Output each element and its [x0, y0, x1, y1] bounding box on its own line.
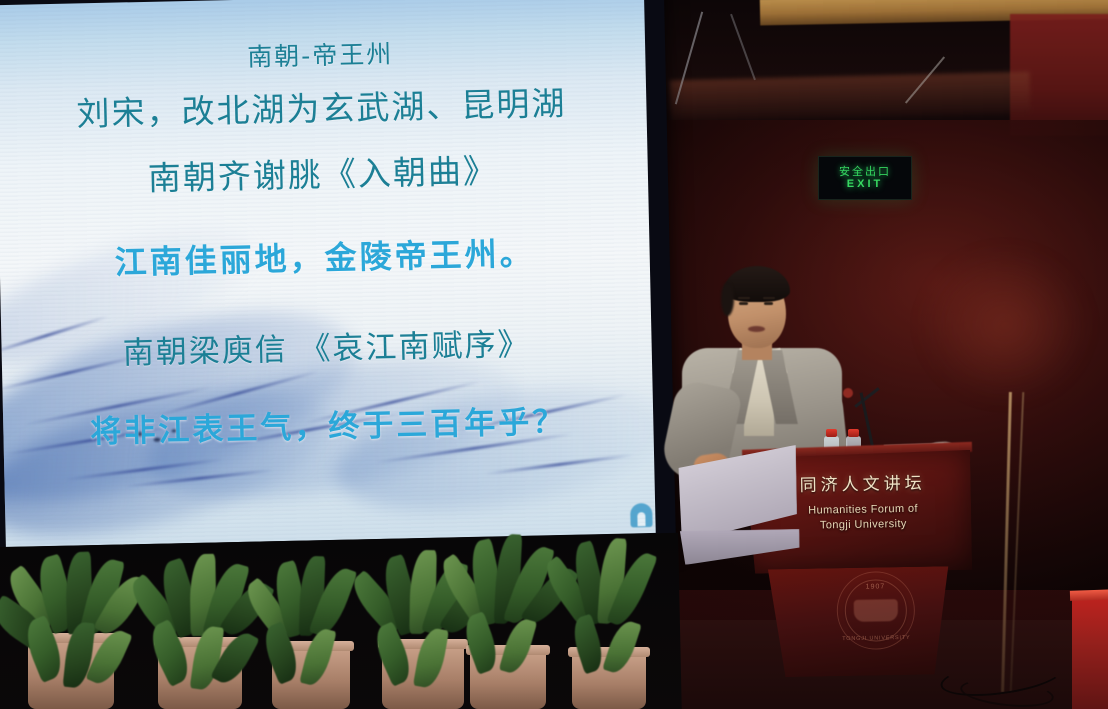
- slide-text-block: 南朝-帝王州 刘宋，改北湖为玄武湖、昆明湖 南朝齐谢朓《入朝曲》 江南佳丽地，金…: [0, 0, 656, 547]
- exit-sign-chinese: 安全出口: [839, 166, 891, 177]
- lecture-hall-photo: 安全出口 EXIT 南朝-帝王州: [0, 0, 1108, 709]
- speaker-mouth: [748, 326, 765, 332]
- speaker-eyebrow-left: [738, 297, 750, 299]
- speaker-eyebrow-right: [763, 297, 775, 299]
- red-equipment-box: [1072, 594, 1108, 709]
- speaker-eye-right: [764, 302, 773, 305]
- projection-screen: 南朝-帝王州 刘宋，改北湖为玄武湖、昆明湖 南朝齐谢朓《入朝曲》 江南佳丽地，金…: [0, 0, 676, 563]
- speaker-eye-left: [739, 302, 748, 305]
- microphone-icon: [843, 388, 853, 398]
- speaker-hair-side: [721, 282, 734, 316]
- exit-sign-english: EXIT: [847, 179, 883, 190]
- wall-light-sheen: [890, 220, 1108, 430]
- tongji-university-emblem-icon: 1907 TONGJI UNIVERSITY: [836, 571, 915, 650]
- slide-line-4: 南朝梁庾信 《哀江南赋序》: [1, 316, 652, 375]
- rocket-logo-icon: [630, 503, 653, 527]
- podium-title-chinese: 同济人文讲坛: [799, 469, 925, 496]
- podium-title-english-line2: Tongji University: [820, 518, 907, 532]
- podium: 同济人文讲坛 Humanities Forum of Tongji Univer…: [720, 450, 974, 674]
- emblem-boat-motif: [854, 599, 898, 622]
- exit-sign: 安全出口 EXIT: [818, 156, 912, 200]
- podium-title-english-line1: Humanities Forum of: [808, 503, 918, 517]
- emblem-year: 1907: [837, 583, 913, 591]
- slide-line-5-highlight: 将非江表王气，终于三百年乎？: [3, 394, 654, 453]
- bottle-cap: [826, 429, 837, 437]
- red-equipment-box-top: [1070, 589, 1108, 601]
- bottle-cap: [848, 429, 859, 437]
- slide-title: 南朝-帝王州: [0, 29, 646, 79]
- wall-band: [670, 72, 1031, 123]
- projection-screen-surface: 南朝-帝王州 刘宋，改北湖为玄武湖、昆明湖 南朝齐谢朓《入朝曲》 江南佳丽地，金…: [0, 0, 656, 547]
- slide-line-1: 刘宋，改北湖为玄武湖、昆明湖: [0, 75, 647, 137]
- slide-line-3-highlight: 江南佳丽地，金陵帝王州。: [0, 226, 650, 286]
- slide-line-2: 南朝齐谢朓《入朝曲》: [0, 141, 648, 203]
